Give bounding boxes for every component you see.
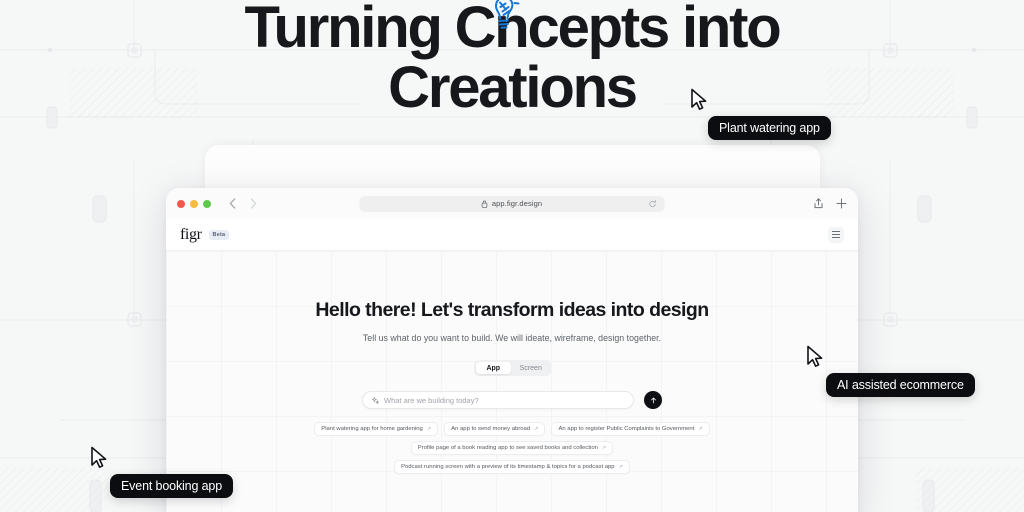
suggestion-label: Podcast running screen with a preview of… [401, 464, 614, 470]
traffic-lights [177, 200, 211, 208]
url-text: app.figr.design [492, 199, 542, 208]
suggestion-row: Plant watering app for home gardening↗ A… [314, 422, 709, 436]
suggestion-label: Profile page of a book reading app to se… [418, 445, 598, 451]
promo-banner: Turning Cncepts into Creations [0, 0, 1024, 512]
hero-subtitle: Tell us what do you want to build. We wi… [166, 333, 858, 343]
lightbulb-icon [484, 0, 524, 36]
send-button[interactable] [644, 391, 662, 409]
chrome-actions [814, 198, 847, 209]
beta-badge: Beta [209, 230, 230, 240]
suggestion-chip[interactable]: Profile page of a book reading app to se… [411, 441, 613, 455]
arrow-up-right-icon: ↗ [602, 445, 606, 451]
suggestion-chip[interactable]: An app to register Public Complaints to … [551, 422, 709, 436]
plus-icon[interactable] [836, 198, 847, 209]
cursor-label: Event booking app [110, 474, 233, 498]
suggestion-chip[interactable]: Podcast running screen with a preview of… [394, 460, 630, 474]
sparkle-icon [372, 397, 379, 404]
app-header: figr Beta [166, 219, 858, 251]
chevron-left-icon[interactable] [229, 198, 236, 209]
lock-icon [482, 200, 488, 208]
hamburger-menu-icon[interactable] [828, 227, 844, 243]
cursor-plant-watering: Plant watering app [690, 88, 831, 140]
cursor-arrow-icon [690, 88, 710, 112]
address-bar[interactable]: app.figr.design [360, 196, 665, 212]
send-arrow-icon [650, 397, 657, 404]
arrow-up-right-icon: ↗ [427, 426, 431, 432]
arrow-up-right-icon: ↗ [619, 464, 623, 470]
suggestion-row: Podcast running screen with a preview of… [394, 460, 630, 474]
suggestion-chip[interactable]: Plant watering app for home gardening↗ [314, 422, 438, 436]
cursor-label: AI assisted ecommerce [826, 373, 975, 397]
tab-app[interactable]: App [476, 362, 512, 374]
suggestion-row: Profile page of a book reading app to se… [411, 441, 613, 455]
hero-heading: Hello there! Let's transform ideas into … [166, 299, 858, 322]
browser-chrome: app.figr.design [166, 188, 858, 219]
maximize-window-button[interactable] [203, 200, 211, 208]
cursor-arrow-icon [90, 446, 110, 470]
headline-text-before: Turning C [245, 0, 495, 60]
headline-text-after: ncepts into [494, 0, 779, 60]
headline-line-2: Creations [0, 58, 1024, 118]
suggestion-label: Plant watering app for home gardening [321, 426, 423, 432]
chevron-right-icon[interactable] [250, 198, 257, 209]
browser-window: app.figr.design figr Beta Hello there! L… [166, 188, 858, 512]
headline-line-1: Turning Cncepts into [245, 0, 780, 58]
cursor-label: Plant watering app [708, 116, 831, 140]
suggestion-chip[interactable]: An app to send money abroad↗ [444, 422, 545, 436]
cursor-event-booking: Event booking app [90, 446, 233, 498]
suggestion-label: An app to send money abroad [451, 426, 530, 432]
browser-navigation [229, 198, 257, 209]
prompt-placeholder: What are we building today? [384, 396, 479, 405]
arrow-up-right-icon: ↗ [534, 426, 538, 432]
app-canvas: Hello there! Let's transform ideas into … [166, 251, 858, 512]
arrow-up-right-icon: ↗ [698, 426, 702, 432]
tab-screen[interactable]: Screen [513, 362, 549, 374]
close-window-button[interactable] [177, 200, 185, 208]
share-icon[interactable] [814, 198, 823, 209]
suggestion-chips: Plant watering app for home gardening↗ A… [166, 422, 858, 474]
minimize-window-button[interactable] [190, 200, 198, 208]
cursor-arrow-icon [806, 345, 826, 369]
reload-icon[interactable] [649, 200, 657, 208]
figr-logo[interactable]: figr [180, 226, 202, 244]
page-title: Turning Cncepts into Creations [0, 0, 1024, 118]
prompt-input[interactable]: What are we building today? [362, 391, 634, 409]
cursor-ai-ecommerce: AI assisted ecommerce [806, 345, 975, 397]
prompt-row: What are we building today? [362, 391, 662, 409]
suggestion-label: An app to register Public Complaints to … [558, 426, 694, 432]
mode-toggle: App Screen [474, 360, 551, 376]
